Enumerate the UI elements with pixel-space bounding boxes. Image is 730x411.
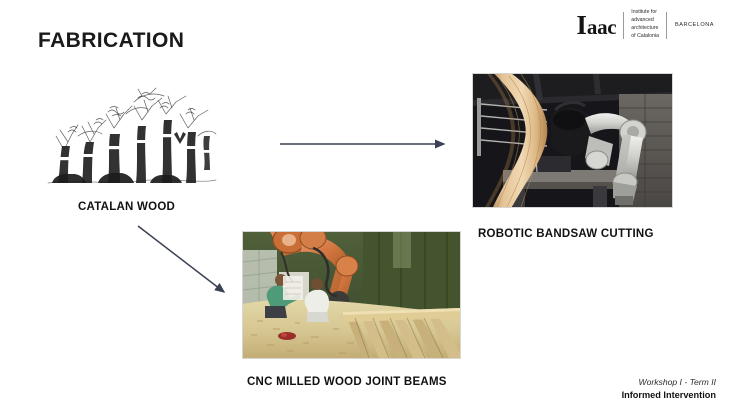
figure-catalan-wood [38, 84, 224, 194]
tagline-line-4: of Catalonia [631, 33, 659, 41]
iaac-logo-letter-i: I [576, 12, 587, 39]
iaac-logo-city: BARCELONA [667, 22, 714, 28]
footer: Workshop I - Term II Informed Interventi… [622, 377, 716, 401]
catalan-wood-sketch-icon [38, 84, 224, 194]
iaac-logo: I aac Institute for advanced architectur… [576, 8, 714, 42]
caption-cnc-milled-beams: CNC MILLED WOOD JOINT BEAMS [247, 376, 447, 388]
figure-robotic-bandsaw [473, 74, 672, 207]
caption-catalan-wood: CATALAN WOOD [78, 201, 175, 213]
figure-cnc-milled-beams [243, 232, 460, 358]
robotic-bandsaw-photo-icon [473, 74, 672, 207]
tagline-line-2: advanced [631, 17, 659, 25]
arrow-wood-to-robotic [278, 136, 454, 152]
page-title: FABRICATION [38, 29, 184, 53]
footer-workshop-label: Workshop I - Term II [622, 377, 716, 389]
tagline-line-3: architecture [631, 25, 659, 33]
iaac-logo-mark: I aac [576, 12, 623, 39]
tagline-line-1: Institute for [631, 9, 659, 17]
cnc-milled-beams-photo-icon [243, 232, 460, 358]
footer-subtitle-label: Informed Intervention [622, 389, 716, 401]
iaac-logo-letters-aac: aac [587, 17, 616, 38]
arrow-wood-to-cnc [132, 220, 240, 306]
caption-robotic-bandsaw: ROBOTIC BANDSAW CUTTING [478, 228, 654, 240]
iaac-logo-tagline: Institute for advanced architecture of C… [624, 9, 666, 41]
